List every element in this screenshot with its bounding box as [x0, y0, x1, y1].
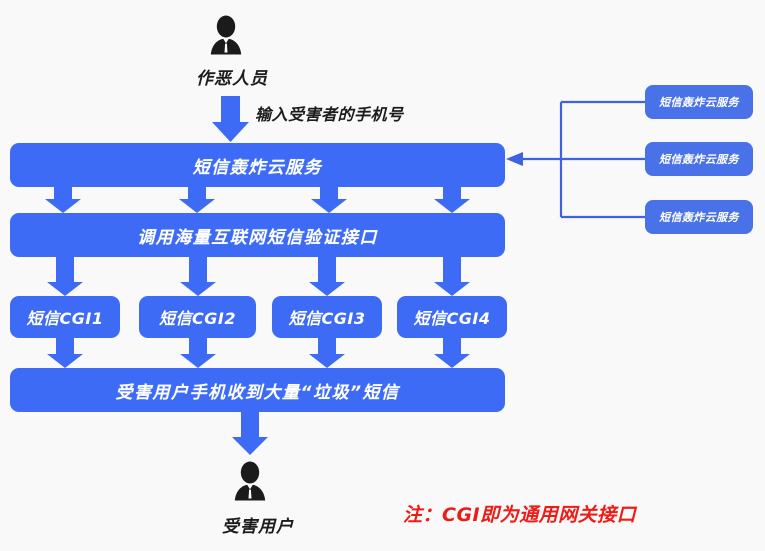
attacker-person-icon	[211, 16, 241, 55]
diagram-canvas	[0, 0, 765, 551]
victim-label: 受害用户	[222, 512, 294, 537]
arrow-cgi-2-to-victim-box	[180, 338, 216, 368]
box-sms-cgi-4[interactable]: 短信CGI4	[397, 296, 507, 338]
input-phone-edge-label: 输入受害者的手机号	[255, 101, 404, 125]
box-sms-cgi-3[interactable]: 短信CGI3	[272, 296, 382, 338]
side-box-cloud-service-1[interactable]: 短信轰炸云服务	[645, 85, 753, 119]
arrow-victim-box-to-victim	[232, 412, 268, 455]
box-victim-receives-spam-sms[interactable]: 受害用户手机收到大量“垃圾”短信	[10, 368, 505, 412]
side-nodes-connector	[519, 102, 645, 217]
box-call-sms-verification-api[interactable]: 调用海量互联网短信验证接口	[10, 213, 505, 257]
arrow-cgi-4-to-victim-box	[434, 338, 470, 368]
arrow-cloud-to-api-3	[311, 187, 347, 213]
victim-person-icon	[235, 462, 265, 501]
arrow-attacker-to-cloud-service	[212, 96, 249, 142]
side-connector-arrowhead	[506, 152, 523, 166]
box-sms-bombing-cloud-service[interactable]: 短信轰炸云服务	[10, 143, 505, 187]
box-sms-cgi-2[interactable]: 短信CGI2	[139, 296, 256, 338]
arrow-api-to-cgi-3	[309, 257, 345, 296]
arrow-cloud-to-api-1	[45, 187, 81, 213]
arrow-api-to-cgi-4	[434, 257, 470, 296]
arrow-cloud-to-api-4	[434, 187, 470, 213]
arrow-api-to-cgi-1	[47, 257, 83, 296]
arrow-cgi-1-to-victim-box	[47, 338, 83, 368]
arrow-cgi-3-to-victim-box	[309, 338, 345, 368]
side-box-cloud-service-3[interactable]: 短信轰炸云服务	[645, 200, 753, 234]
arrow-api-to-cgi-2	[180, 257, 216, 296]
attacker-label: 作恶人员	[196, 64, 268, 89]
cgi-footnote: 注：CGI即为通用网关接口	[403, 500, 636, 527]
arrow-cloud-to-api-2	[179, 187, 215, 213]
side-box-cloud-service-2[interactable]: 短信轰炸云服务	[645, 142, 753, 176]
box-sms-cgi-1[interactable]: 短信CGI1	[10, 296, 120, 338]
